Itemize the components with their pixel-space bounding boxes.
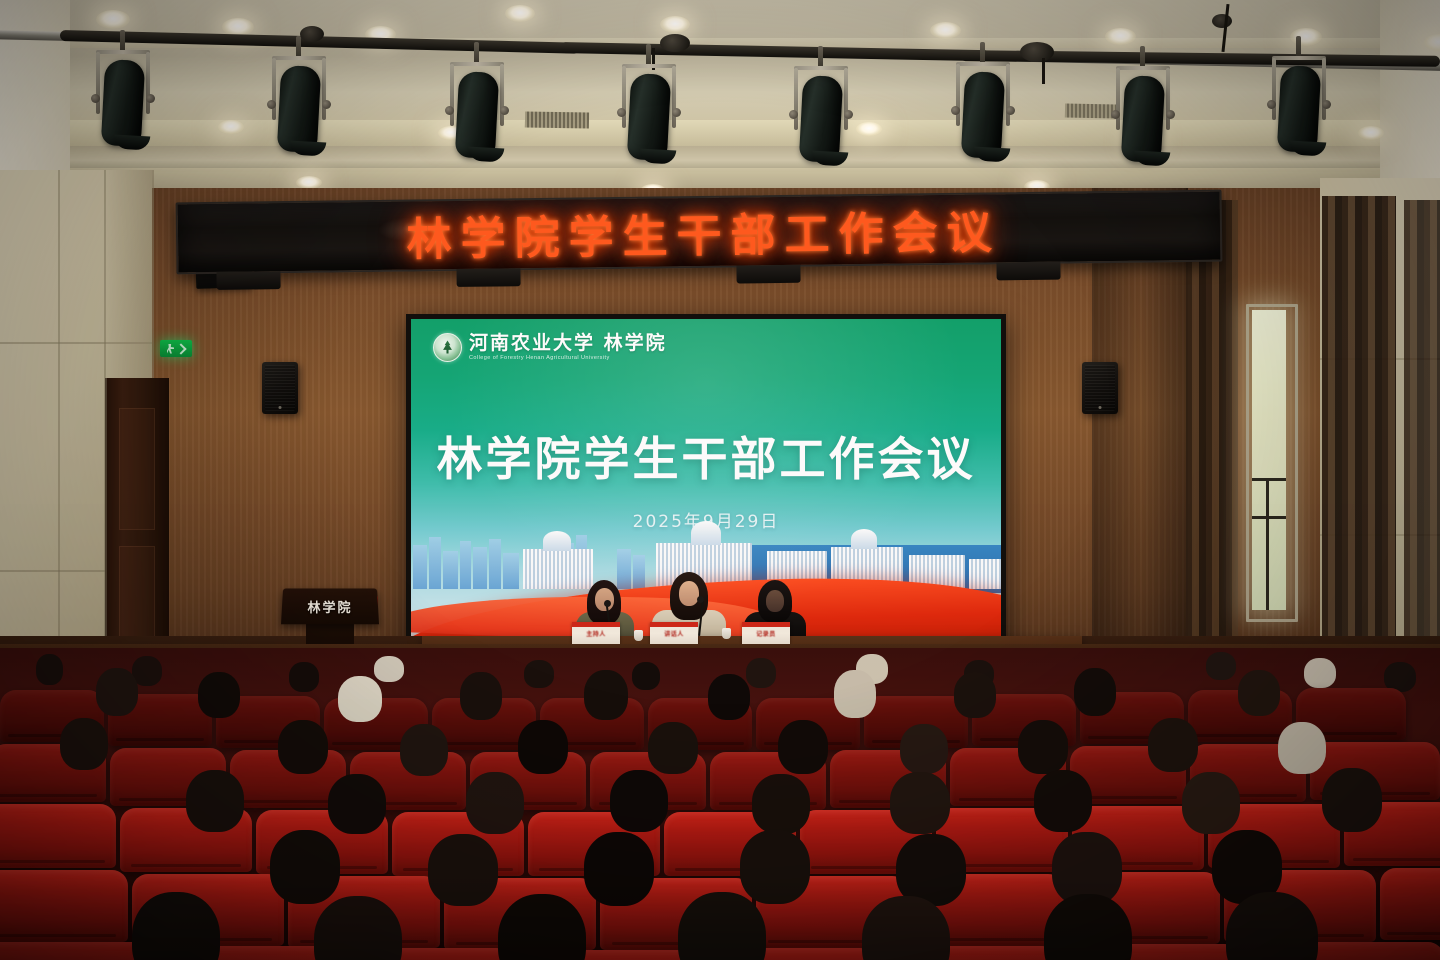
audience-member xyxy=(576,670,636,728)
spotlight-body xyxy=(961,71,1005,159)
spotlight-knob xyxy=(500,106,509,115)
person-head xyxy=(36,654,63,685)
speaker-grille xyxy=(1085,365,1115,411)
downlight xyxy=(96,10,130,29)
wall-speaker-left xyxy=(262,362,298,414)
person-head xyxy=(186,770,244,832)
spotlight-stem xyxy=(646,44,651,66)
person-head xyxy=(1238,670,1280,716)
wall-speaker-right xyxy=(1082,362,1118,414)
spotlight-stem xyxy=(980,42,985,64)
spotlight-knob xyxy=(445,106,454,115)
person-head xyxy=(270,830,340,904)
speaker-indicator-led xyxy=(1099,406,1102,409)
person-head xyxy=(328,774,386,834)
person-head xyxy=(610,770,668,832)
person-head xyxy=(766,590,784,612)
curtain-far-right xyxy=(1404,200,1440,700)
spotlight-yoke xyxy=(794,68,798,130)
audience-member xyxy=(392,724,458,786)
audience-member xyxy=(330,676,388,732)
spotlight-body xyxy=(277,65,321,153)
seat xyxy=(0,804,116,868)
led-mount-brace xyxy=(996,262,1060,281)
person-head xyxy=(584,670,628,720)
spotlight-lens xyxy=(640,149,677,165)
audience-member xyxy=(118,892,238,960)
audience-member xyxy=(452,672,510,730)
spotlight-yoke xyxy=(1006,64,1010,126)
audience-member xyxy=(88,668,146,724)
audience-member xyxy=(176,770,256,844)
ceiling-vent xyxy=(525,111,589,128)
person-head xyxy=(1182,772,1240,834)
spotlight-knob xyxy=(789,110,798,119)
spotlight-yoke xyxy=(96,50,150,54)
person-head xyxy=(460,672,502,720)
person-head xyxy=(900,724,948,774)
spotlight-yoke xyxy=(146,52,150,114)
spotlight-knob xyxy=(1322,100,1331,109)
led-panel: 林学院学生干部工作会议 xyxy=(176,190,1223,275)
water-cup xyxy=(634,630,643,641)
speaker-indicator-led xyxy=(279,406,282,409)
hanging-cable xyxy=(1042,58,1045,84)
person-head xyxy=(198,672,240,718)
downlight xyxy=(1290,28,1322,46)
stage-spotlight xyxy=(268,52,330,164)
spotlight-stem xyxy=(474,42,479,64)
audience-member xyxy=(700,674,758,730)
person-head xyxy=(1074,668,1116,716)
audience-member xyxy=(190,672,248,728)
person-head xyxy=(96,668,138,716)
spotlight-knob xyxy=(1111,110,1120,119)
stage-spotlight xyxy=(1112,62,1174,174)
spotlight-yoke xyxy=(794,66,848,70)
audience-member xyxy=(285,662,325,694)
audience-member xyxy=(520,660,560,690)
downlight xyxy=(1358,126,1384,140)
audience-member xyxy=(52,718,118,780)
spotlight-body xyxy=(101,59,145,147)
spotlight-lens xyxy=(468,147,505,163)
spotlight-lens xyxy=(1134,151,1171,167)
speaker-grille xyxy=(265,365,295,411)
led-banner-text: 林学院学生干部工作会议 xyxy=(178,193,1221,271)
name-placard-right: 记录员 xyxy=(742,622,790,644)
cable-bundle xyxy=(300,26,324,42)
ceiling-vent xyxy=(1065,104,1117,119)
water-cup xyxy=(722,628,731,639)
downlight xyxy=(660,16,690,33)
ceiling-band xyxy=(0,120,1440,146)
person-head xyxy=(518,720,568,774)
spotlight-body xyxy=(799,75,843,163)
arrow-icon xyxy=(175,343,186,354)
stage-spotlight xyxy=(790,62,852,174)
person-head xyxy=(1044,894,1132,960)
exit-sign-icon xyxy=(160,340,192,357)
spotlight-lens xyxy=(812,151,849,167)
spotlight-knob xyxy=(844,110,853,119)
spotlight-body xyxy=(455,71,499,159)
person-head xyxy=(862,896,950,960)
spotlight-body xyxy=(1277,65,1321,153)
spotlight-yoke xyxy=(272,56,326,60)
spotlight-knob xyxy=(1006,106,1015,115)
seat xyxy=(1380,868,1440,940)
spotlight-stem xyxy=(1296,36,1301,58)
person-head xyxy=(834,670,876,718)
door-panel xyxy=(119,408,155,530)
spotlight-knob xyxy=(1166,110,1175,119)
audience-seating xyxy=(0,648,1440,960)
person-head xyxy=(890,772,950,834)
person-head xyxy=(1278,722,1326,774)
curtain-right-outer xyxy=(1322,196,1396,706)
spotlight-yoke xyxy=(1116,68,1120,130)
spotlight-yoke xyxy=(622,66,626,128)
ceiling-right-return xyxy=(1380,0,1440,180)
audience-member xyxy=(664,892,784,960)
audience-member xyxy=(1312,768,1394,844)
spotlight-yoke xyxy=(1272,56,1326,60)
audience-member xyxy=(1030,894,1150,960)
person-head xyxy=(466,772,524,834)
spotlight-yoke xyxy=(322,58,326,120)
seat xyxy=(0,870,128,942)
name-placard-center: 讲话人 xyxy=(650,622,698,644)
person-head xyxy=(338,676,382,722)
curtain-right-inner xyxy=(1186,200,1238,700)
spotlight-yoke xyxy=(1166,68,1170,130)
spotlight-yoke xyxy=(956,64,960,126)
podium-label: 林学院 xyxy=(282,597,378,616)
downlight xyxy=(218,120,244,134)
person-head xyxy=(60,718,108,770)
cable-bundle xyxy=(660,34,690,52)
spotlight-yoke xyxy=(672,66,676,128)
microphone-head xyxy=(697,596,704,603)
auditorium-photo: 河南农业大学 林学院 College of Forestry Henan Agr… xyxy=(0,0,1440,960)
spotlight-lens xyxy=(974,147,1011,163)
spotlight-knob xyxy=(146,94,155,103)
spotlight-lens xyxy=(1290,141,1327,157)
audience-member xyxy=(484,894,604,960)
cable-bundle xyxy=(1212,14,1232,28)
spotlight-stem xyxy=(818,46,823,68)
person-head xyxy=(595,588,614,611)
led-banner: 林学院学生干部工作会议 xyxy=(176,190,1223,275)
person-head xyxy=(954,672,996,718)
window-frame xyxy=(1246,304,1298,622)
led-mount-brace xyxy=(216,271,280,290)
spotlight-stem xyxy=(1140,46,1145,68)
ceiling-band xyxy=(0,168,1440,190)
spotlight-knob xyxy=(267,100,276,109)
microphone-head xyxy=(604,600,611,607)
spotlight-stem xyxy=(120,30,125,52)
spotlight-knob xyxy=(322,100,331,109)
spotlight-knob xyxy=(672,108,681,117)
spotlight-lens xyxy=(290,141,327,157)
spotlight-knob xyxy=(1267,100,1276,109)
person-head xyxy=(400,724,448,776)
led-mount-brace xyxy=(456,268,520,287)
person-head xyxy=(752,774,810,834)
person-head xyxy=(498,894,586,960)
person-head xyxy=(1304,658,1336,688)
audience-member xyxy=(1066,668,1124,726)
person-head xyxy=(278,720,328,774)
spotlight-knob xyxy=(951,106,960,115)
spotlight-lens xyxy=(114,135,151,151)
person-head xyxy=(289,662,319,692)
person-head xyxy=(708,674,750,720)
spotlight-body xyxy=(627,73,671,161)
spotlight-yoke xyxy=(622,64,676,68)
name-placard-left: 主持人 xyxy=(572,622,620,644)
stage-spotlight xyxy=(952,58,1014,170)
spotlight-yoke xyxy=(956,62,1010,66)
audience-member xyxy=(946,672,1004,728)
person-head xyxy=(1148,718,1198,772)
person-head xyxy=(1034,770,1092,832)
person-head xyxy=(1018,720,1068,774)
audience-member xyxy=(1230,670,1288,726)
placard-name-text: 讲话人 xyxy=(650,629,698,638)
spotlight-yoke xyxy=(500,64,504,126)
spotlight-body xyxy=(1121,75,1165,163)
spotlight-yoke xyxy=(1272,58,1276,120)
spotlight-yoke xyxy=(1116,66,1170,70)
spotlight-yoke xyxy=(844,68,848,130)
placard-name-text: 主持人 xyxy=(572,629,620,638)
downlight xyxy=(856,122,882,136)
person-head xyxy=(314,896,402,960)
person-head xyxy=(778,720,828,774)
spotlight-knob xyxy=(617,108,626,117)
person-head xyxy=(678,892,766,960)
person-head xyxy=(1322,768,1382,832)
placard-name-text: 记录员 xyxy=(742,629,790,638)
person-head xyxy=(648,722,698,774)
person-head xyxy=(679,581,699,606)
spotlight-yoke xyxy=(1322,58,1326,120)
stage-spotlight xyxy=(92,46,154,158)
downlight xyxy=(505,5,535,22)
spotlight-yoke xyxy=(450,62,504,66)
stage-spotlight xyxy=(618,60,680,172)
stage-spotlight xyxy=(1268,52,1330,164)
spotlight-yoke xyxy=(272,58,276,120)
led-mount-brace xyxy=(736,265,800,284)
person-head xyxy=(1226,892,1318,960)
spotlight-yoke xyxy=(450,64,454,126)
audience-member xyxy=(848,896,968,960)
spotlight-yoke xyxy=(96,52,100,114)
person-head xyxy=(632,662,660,690)
audience-member xyxy=(300,896,420,960)
downlight xyxy=(930,22,961,39)
spotlight-knob xyxy=(91,94,100,103)
audience-member xyxy=(1212,892,1336,960)
person-head xyxy=(132,892,220,960)
audience-member xyxy=(30,654,70,688)
running-man-icon xyxy=(167,344,174,354)
downlight xyxy=(1105,28,1136,45)
person-head xyxy=(524,660,554,688)
audience-member xyxy=(1300,658,1344,692)
spotlight-stem xyxy=(296,36,301,58)
cable-bundle xyxy=(1020,42,1054,62)
stage-spotlight xyxy=(446,58,508,170)
